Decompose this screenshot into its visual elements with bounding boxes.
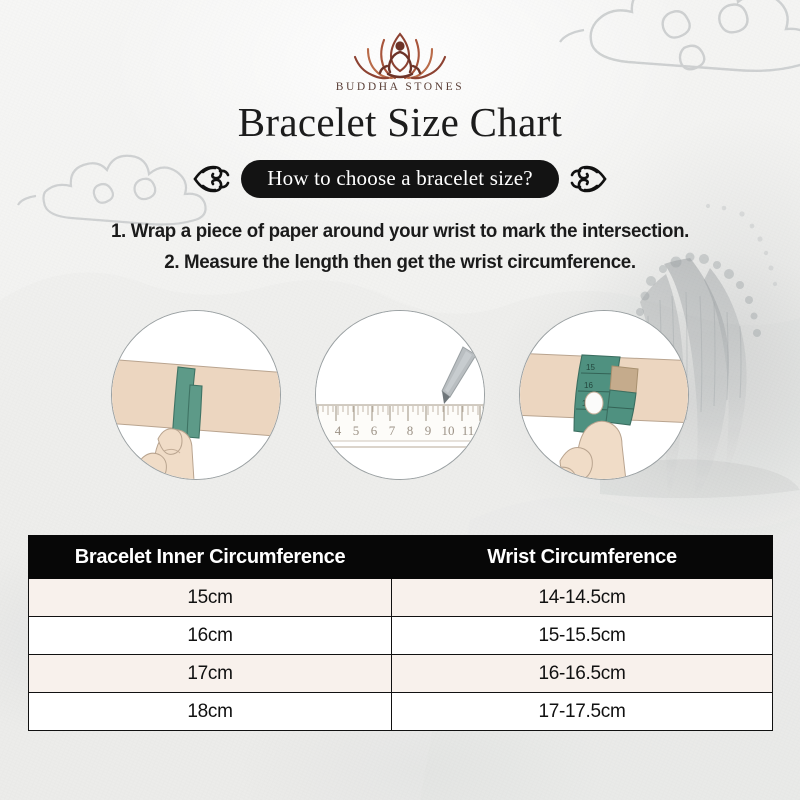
table-header-row: Bracelet Inner Circumference Wrist Circu…	[29, 536, 773, 579]
instruction-step-2: 2. Measure the length then get the wrist…	[16, 247, 784, 278]
illustration-ruler-with-pencil: 3 4 5 6 7 8 9 10 11 12	[315, 310, 485, 480]
cell-bracelet-inner: 18cm	[29, 693, 392, 731]
cell-bracelet-inner: 15cm	[29, 579, 392, 617]
ruler-tick-11: 11	[462, 423, 475, 438]
ruler-tick-6: 6	[371, 423, 378, 438]
illustration-row: 3 4 5 6 7 8 9 10 11 12	[0, 310, 800, 480]
subtitle-row: How to choose a bracelet size?	[0, 160, 800, 198]
subtitle-badge: How to choose a bracelet size?	[241, 160, 558, 198]
brand-logo-block: BUDDHA STONES	[0, 24, 800, 93]
ruler-tick-3: 3	[317, 423, 324, 438]
illustration-wrist-with-paper-strip	[111, 310, 281, 480]
ruler-tick-9: 9	[425, 423, 432, 438]
table-header-bracelet-inner-circumference: Bracelet Inner Circumference	[29, 536, 392, 579]
cell-bracelet-inner: 17cm	[29, 655, 392, 693]
ruler-tick-4: 4	[335, 423, 342, 438]
table-row: 17cm 16-16.5cm	[29, 655, 773, 693]
instruction-step-1: 1. Wrap a piece of paper around your wri…	[16, 216, 784, 247]
ruler-tick-7: 7	[389, 423, 396, 438]
flourish-ornament-right-icon	[568, 162, 610, 196]
table-row: 15cm 14-14.5cm	[29, 579, 773, 617]
page-title: Bracelet Size Chart	[0, 98, 800, 146]
size-chart-table: Bracelet Inner Circumference Wrist Circu…	[28, 535, 773, 731]
cell-wrist: 14-14.5cm	[392, 579, 773, 617]
tape-mark-15: 15	[586, 363, 595, 372]
lotus-meditation-logo-icon	[340, 24, 460, 80]
flourish-ornament-left-icon	[190, 162, 232, 196]
ruler-tick-10: 10	[442, 423, 455, 438]
ruler-tick-12: 12	[480, 423, 486, 438]
cell-wrist: 17-17.5cm	[392, 693, 773, 731]
cell-wrist: 15-15.5cm	[392, 617, 773, 655]
instructions-list: 1. Wrap a piece of paper around your wri…	[0, 216, 800, 278]
tape-mark-16: 16	[584, 381, 593, 390]
illustration-measuring-tape-on-wrist: 15 16 17	[519, 310, 689, 480]
poster-canvas: BUDDHA STONES Bracelet Size Chart How to…	[0, 0, 800, 800]
table-header-wrist-circumference: Wrist Circumference	[392, 536, 773, 579]
brand-name: BUDDHA STONES	[336, 81, 464, 93]
table-row: 18cm 17-17.5cm	[29, 693, 773, 731]
cell-wrist: 16-16.5cm	[392, 655, 773, 693]
table-row: 16cm 15-15.5cm	[29, 617, 773, 655]
cell-bracelet-inner: 16cm	[29, 617, 392, 655]
ruler-tick-5: 5	[353, 423, 360, 438]
ruler-tick-8: 8	[407, 423, 414, 438]
